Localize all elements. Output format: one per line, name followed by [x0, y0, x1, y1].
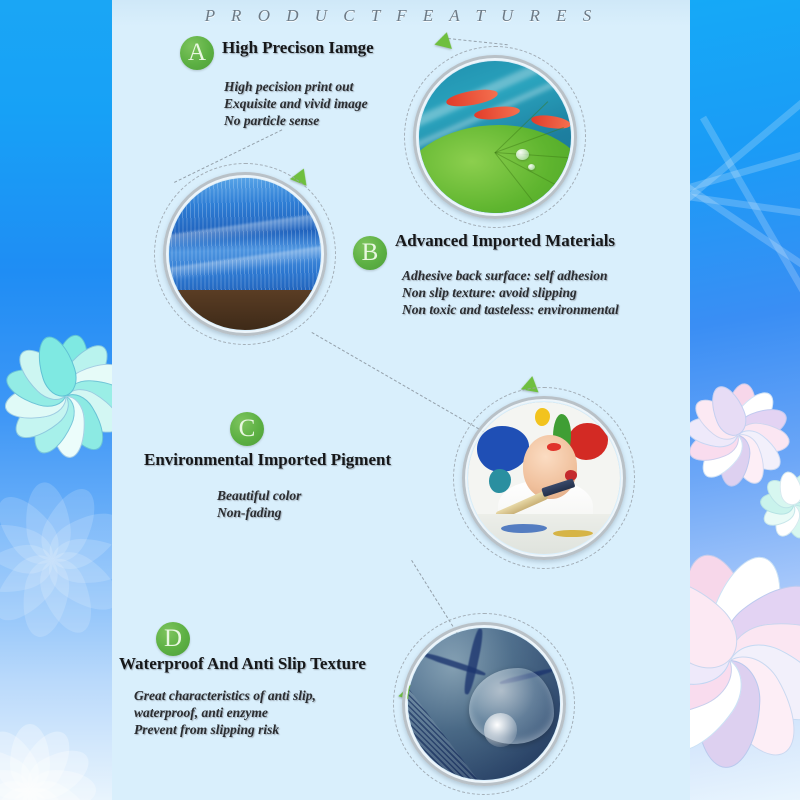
connector-a-tail — [448, 38, 508, 45]
photo-a-koi-fish-lotus-leaf — [419, 61, 571, 213]
heading-a: High Precison Iamge — [222, 38, 374, 58]
body-d: Great characteristics of anti slip, wate… — [134, 687, 316, 738]
heading-b: Advanced Imported Materials — [395, 231, 615, 251]
right-decorative-border — [690, 0, 800, 800]
photo-d-wrapper — [402, 622, 566, 786]
badge-d: D — [156, 622, 190, 656]
page-title: P R O D U C T F E A T U R E S — [112, 6, 690, 26]
heading-d: Waterproof And Anti Slip Texture — [119, 654, 366, 674]
lotus-leaf — [419, 125, 571, 213]
left-decorative-border — [0, 0, 112, 800]
droplet-highlight — [484, 713, 517, 746]
body-c: Beautiful color Non-fading — [217, 487, 301, 521]
fabric-ground-surface — [169, 290, 321, 330]
photo-c-wrapper — [462, 396, 626, 560]
arrow-to-photo-a — [434, 30, 455, 49]
paint-mark-on-forehead — [547, 443, 561, 451]
photo-b-wrapper — [163, 172, 327, 336]
body-b: Adhesive back surface: self adhesion Non… — [402, 267, 619, 318]
product-features-infographic: P R O D U C T F E A T U R E S A High Pre… — [0, 0, 800, 800]
body-a: High pecision print out Exquisite and vi… — [224, 78, 368, 129]
badge-c: C — [230, 412, 264, 446]
floor-paint-streak-1 — [501, 524, 547, 533]
photo-a-wrapper — [413, 55, 577, 219]
photo-c-baby-painting — [468, 402, 620, 554]
photo-d-water-droplet-texture — [408, 628, 560, 780]
main-content-panel: P R O D U C T F E A T U R E S A High Pre… — [112, 0, 690, 800]
painted-floor — [468, 514, 620, 554]
heading-c: Environmental Imported Pigment — [144, 450, 391, 470]
badge-b: B — [353, 236, 387, 270]
photo-b-blue-ribbed-fabric — [169, 178, 321, 330]
badge-a: A — [180, 36, 214, 70]
